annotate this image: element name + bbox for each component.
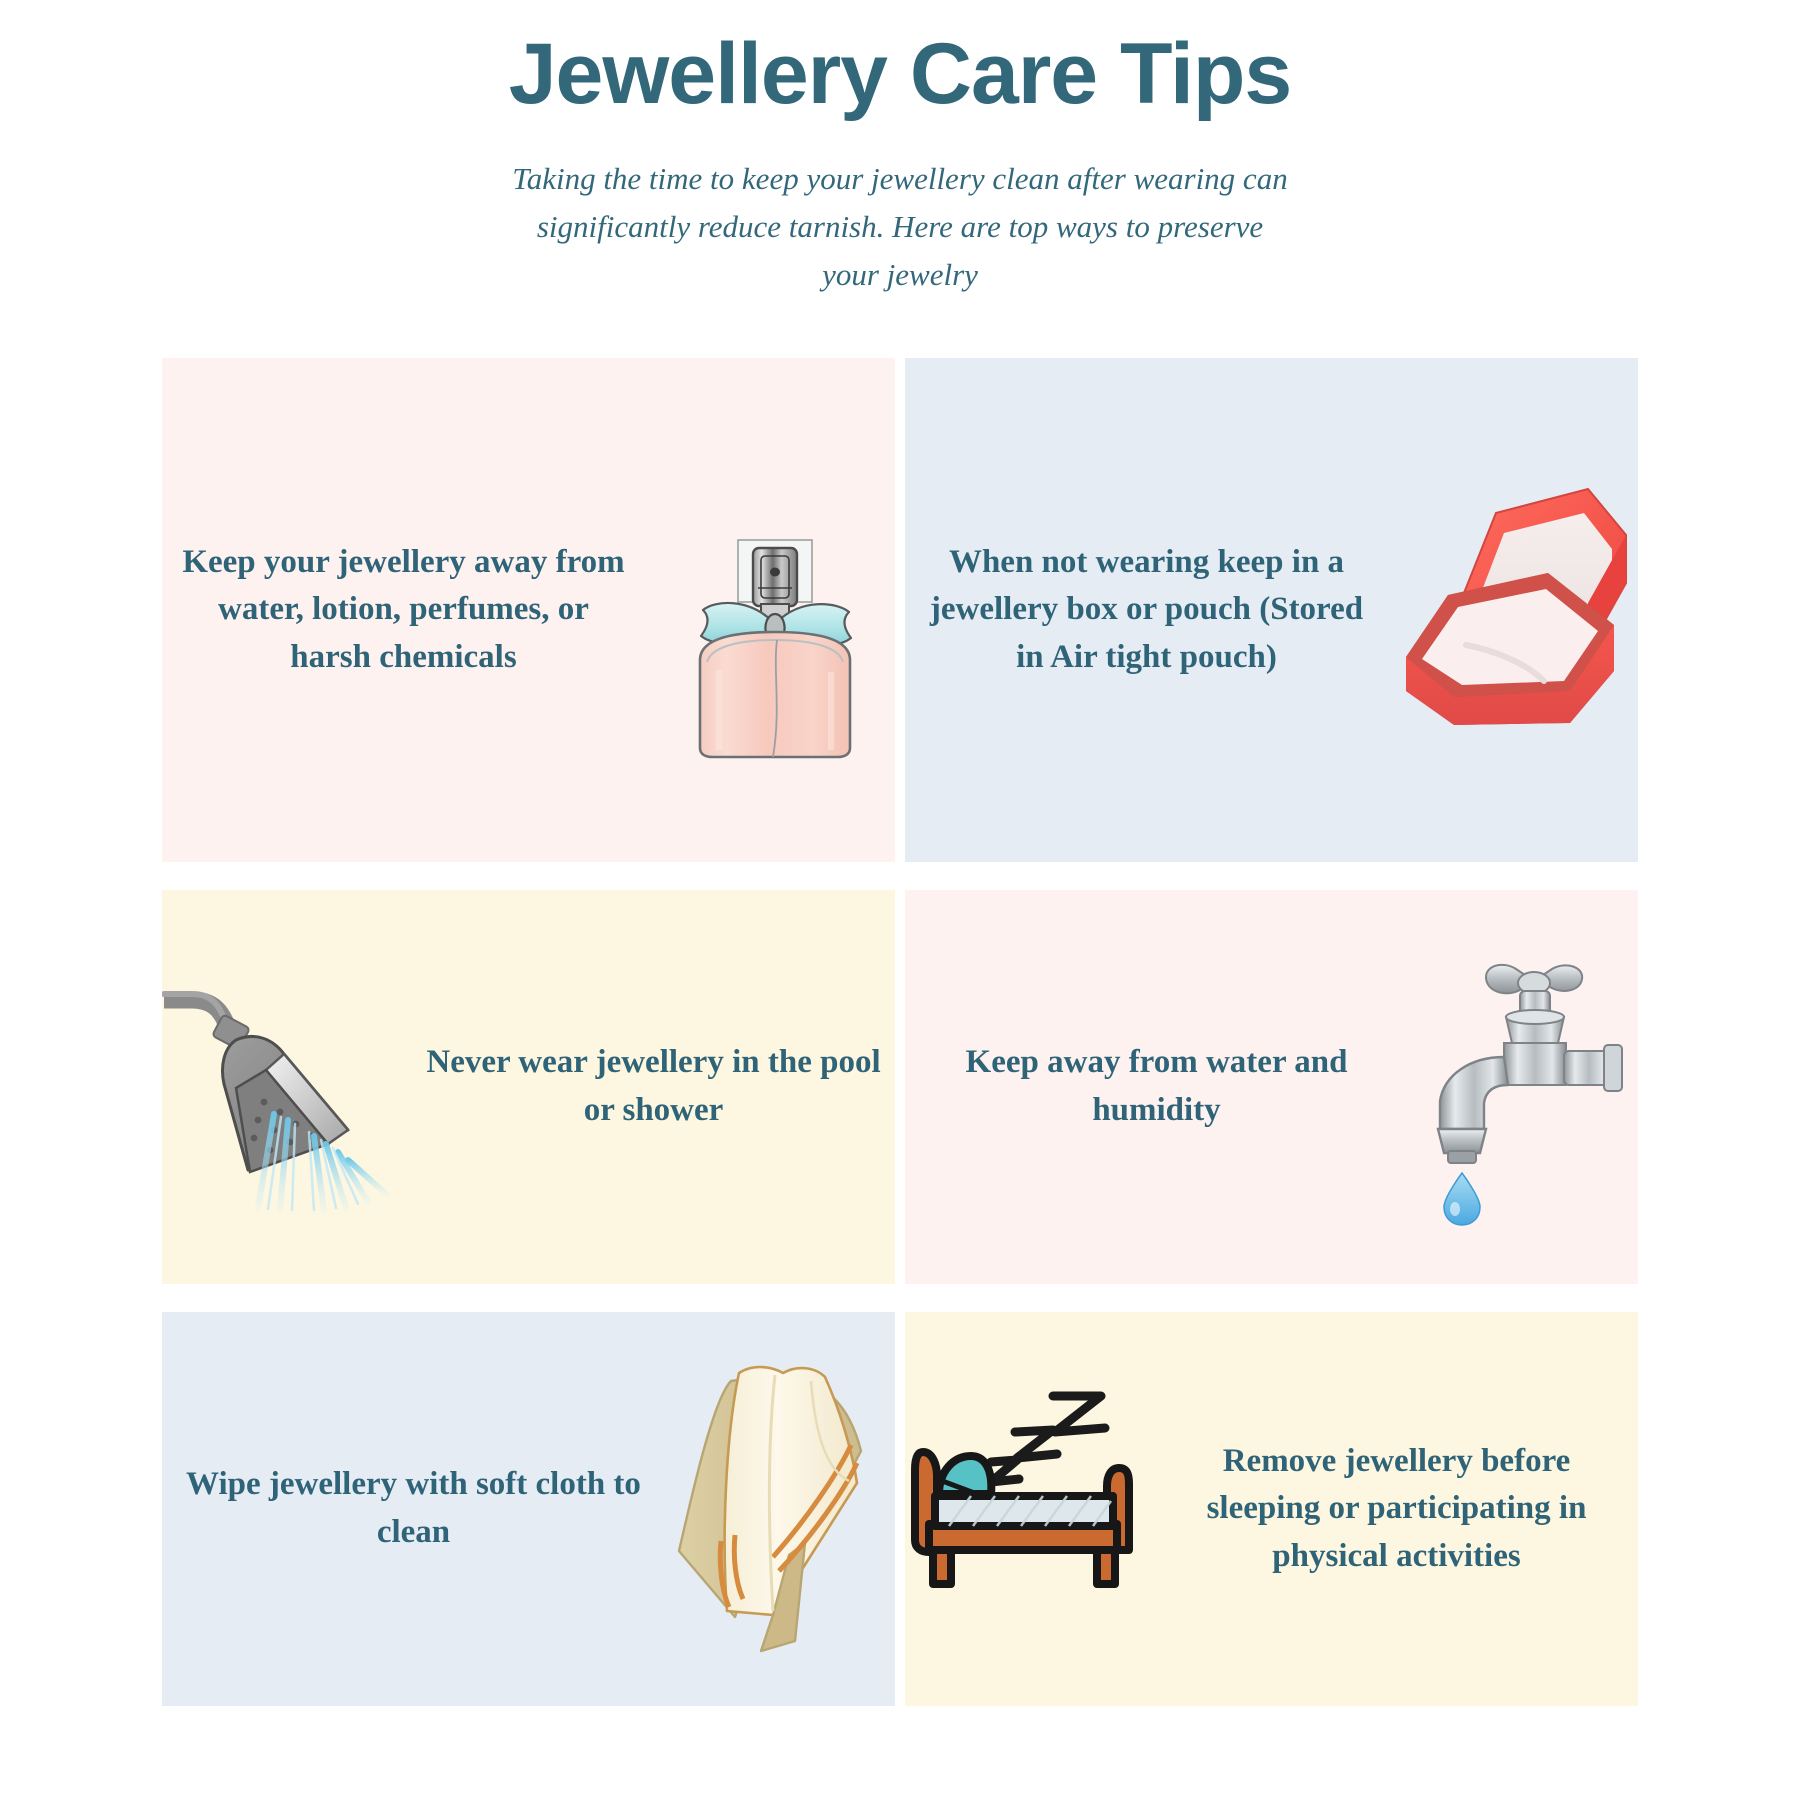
faucet-icon xyxy=(1408,947,1638,1227)
tip-card-text: Keep away from water and humidity xyxy=(905,1039,1408,1134)
shower-head-icon xyxy=(162,962,412,1212)
tip-card-text: Remove jewellery before sleeping or part… xyxy=(1155,1438,1638,1581)
tip-card-text: When not wearing keep in a jewellery box… xyxy=(905,539,1388,682)
tip-card-text: Never wear jewellery in the pool or show… xyxy=(412,1039,895,1134)
header: Jewellery Care Tips Taking the time to k… xyxy=(0,0,1800,299)
tip-card-shower: Never wear jewellery in the pool or show… xyxy=(162,890,895,1284)
bed-icon xyxy=(905,1384,1155,1634)
tip-card-sleeping: Remove jewellery before sleeping or part… xyxy=(905,1312,1638,1706)
tip-card-storage: When not wearing keep in a jewellery box… xyxy=(905,358,1638,862)
tip-card-wipe: Wipe jewellery with soft cloth to clean xyxy=(162,1312,895,1706)
page-subtitle: Taking the time to keep your jewellery c… xyxy=(505,155,1295,299)
cloth-icon xyxy=(665,1359,895,1659)
ring-box-icon xyxy=(1388,475,1638,745)
perfume-bottle-icon xyxy=(645,460,895,760)
tip-card-chemicals: Keep your jewellery away from water, lot… xyxy=(162,358,895,862)
tip-card-humidity: Keep away from water and humidity xyxy=(905,890,1638,1284)
tip-card-text: Wipe jewellery with soft cloth to clean xyxy=(162,1461,665,1556)
infographic-page: Jewellery Care Tips Taking the time to k… xyxy=(0,0,1800,1800)
page-title: Jewellery Care Tips xyxy=(0,28,1800,121)
tip-card-text: Keep your jewellery away from water, lot… xyxy=(162,539,645,682)
tips-grid: Keep your jewellery away from water, lot… xyxy=(162,358,1638,1706)
